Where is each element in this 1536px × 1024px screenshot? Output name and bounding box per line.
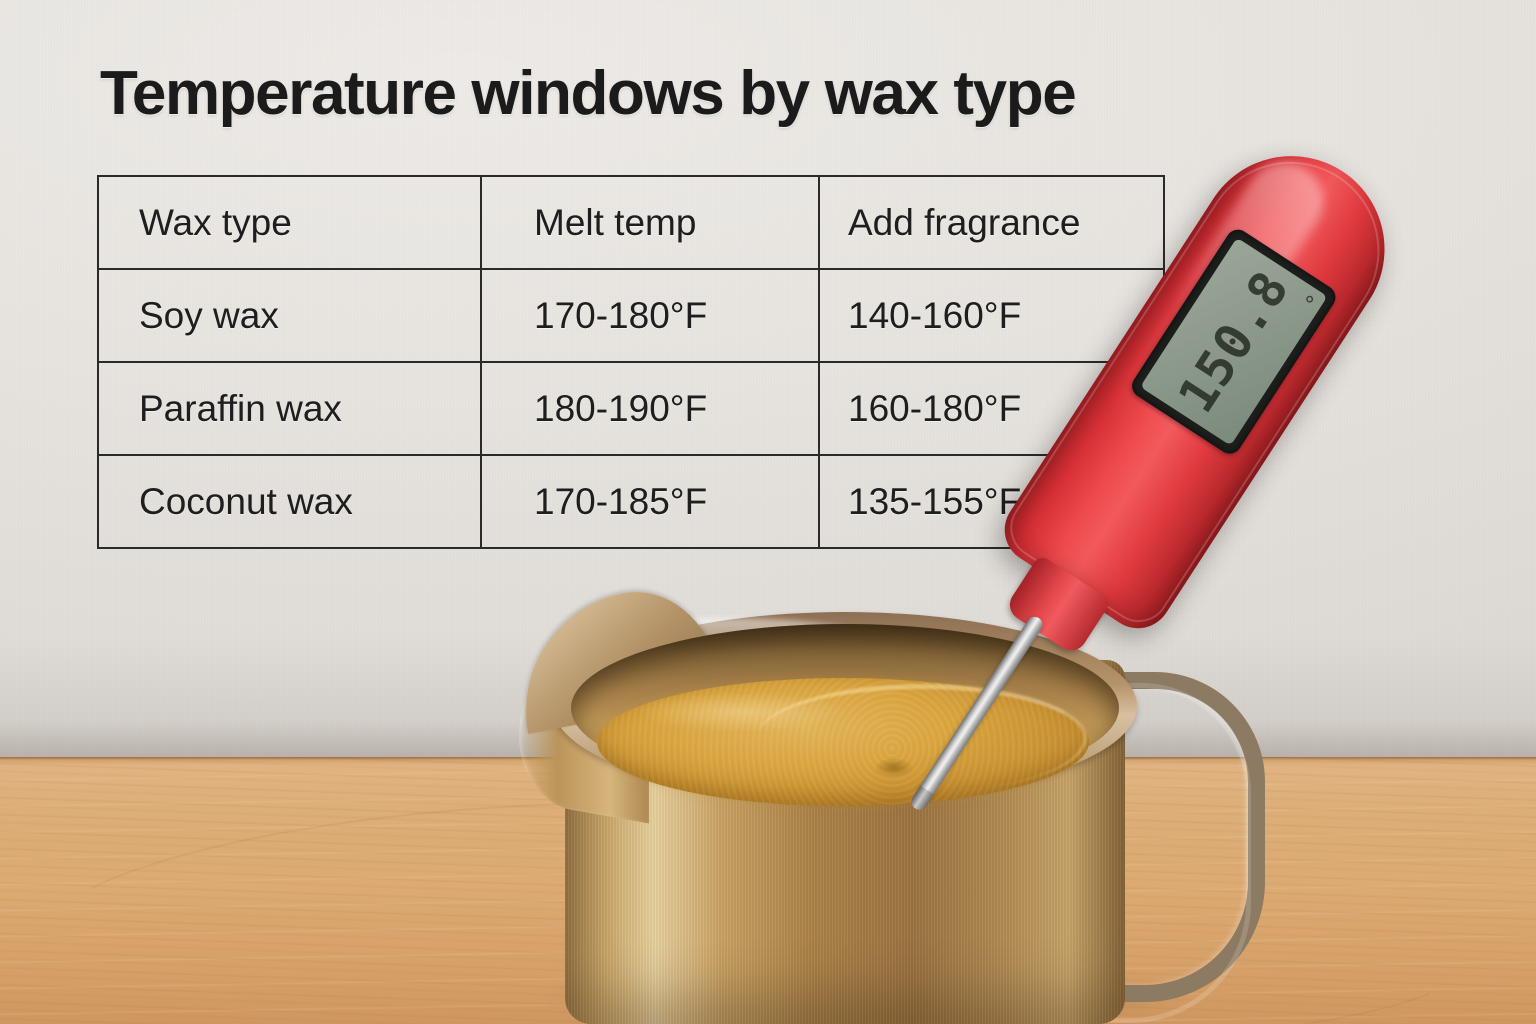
cell-melt-temp: 170-180°F — [481, 269, 819, 362]
cell-melt-temp: 180-190°F — [481, 362, 819, 455]
wax-meniscus-ring — [757, 684, 1087, 792]
scene-photo: Temperature windows by wax type Wax type… — [0, 0, 1536, 1024]
table-row: Paraffin wax 180-190°F 160-180°F — [98, 362, 1164, 455]
probe-entry-dimple — [868, 756, 920, 782]
column-header-wax-type: Wax type — [98, 176, 481, 269]
degree-symbol: ° — [1295, 293, 1316, 317]
page-title: Temperature windows by wax type — [100, 58, 1075, 129]
cell-wax-type: Coconut wax — [98, 455, 481, 548]
table-header-row: Wax type Melt temp Add fragrance — [98, 176, 1164, 269]
melted-wax-surface — [597, 678, 1089, 806]
column-header-add-fragrance: Add fragrance — [819, 176, 1164, 269]
table-row: Soy wax 170-180°F 140-160°F — [98, 269, 1164, 362]
temperature-table: Wax type Melt temp Add fragrance Soy wax… — [97, 175, 1165, 549]
cell-wax-type: Soy wax — [98, 269, 481, 362]
cell-melt-temp: 170-185°F — [481, 455, 819, 548]
cell-add-fragrance: 140-160°F — [819, 269, 1164, 362]
column-header-melt-temp: Melt temp — [481, 176, 819, 269]
cell-wax-type: Paraffin wax — [98, 362, 481, 455]
